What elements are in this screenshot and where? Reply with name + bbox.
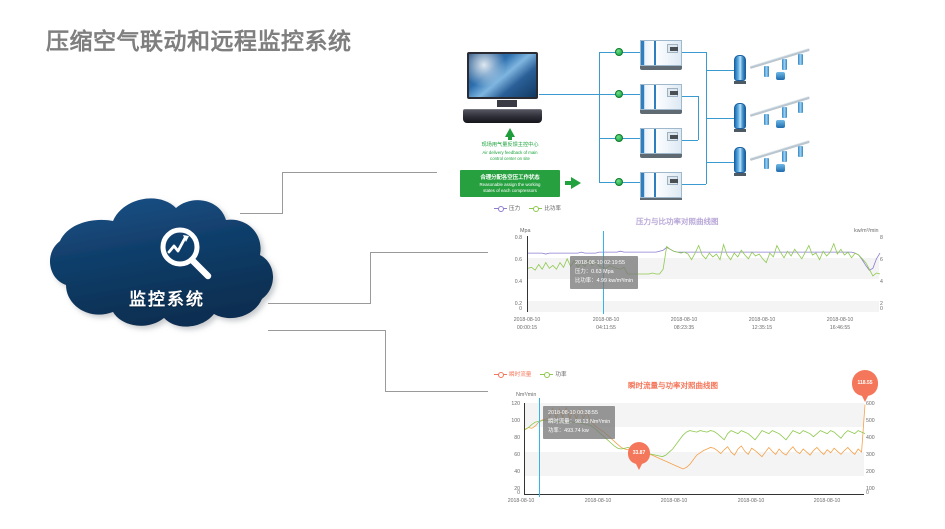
chart1-ytick-r-2: 4 (880, 279, 896, 285)
magnifier-chart-icon (155, 225, 217, 283)
system-diagram: 现场用气量反馈主控中心 Air delivery feedback of mai… (432, 22, 942, 202)
pipe-bus-left (599, 52, 600, 182)
pc-caption-cn: 现场用气量反馈主控中心 (454, 142, 566, 150)
chart2-xtick-3: 2018-08-10 (728, 498, 774, 506)
pipe-out-2 (682, 96, 698, 97)
legend-item-specific-power[interactable]: 比功率 (529, 204, 561, 212)
node-dot-2 (615, 90, 623, 98)
cloud-label: 监控系统 (42, 285, 292, 310)
legend-item-power[interactable]: 功率 (540, 370, 566, 378)
chart2-ytick-4: 80 (504, 435, 520, 441)
chart1-xtick-4-time: 16:46:55 (817, 325, 863, 333)
chart1-tooltip: 2018-08-10 02:19:55 压力：0.63 Mpa 比功率：4.99… (570, 256, 638, 289)
chart1-ylabel-left: Mpa (520, 228, 531, 234)
control-pc (467, 52, 547, 120)
tree-trunk-icon (508, 137, 512, 140)
chart1-ytick-0: 0 (506, 306, 522, 312)
legend-marker-power (540, 374, 553, 375)
chart2-ytick-2: 40 (504, 469, 520, 475)
pc-caption-en-2: control center on site (454, 156, 566, 162)
legend-label-power: 功率 (555, 370, 566, 378)
chart1-xtick-2-date: 2018-08-10 (661, 317, 707, 325)
chart1-tooltip-row2: 比功率：4.99 kw/m³/min (575, 277, 633, 286)
chart2-ytick-r-2: 200 (866, 469, 882, 475)
chart2-title: 瞬时流量与功率对照曲线图 (628, 380, 718, 391)
chart1-xtick-0-time: 00:00:15 (504, 325, 550, 333)
chart2-xtick-4: 2018-08-10 (804, 498, 850, 506)
chart2-ytick-0: 0 (504, 490, 520, 496)
legend-label-specific-power: 比功率 (544, 204, 561, 212)
usage-rail-3 (750, 138, 812, 174)
chart1-ytick-r-3: 6 (880, 257, 896, 263)
chart2-ytick-r-5: 500 (866, 418, 882, 424)
node-dot-4 (615, 178, 623, 186)
green-box-en-2: states of each compressors (460, 188, 560, 194)
chart2-xtick-2: 2018-08-10 (651, 498, 697, 506)
chart2-marker-pin-1[interactable]: 33.87 (628, 442, 650, 472)
chart2-xtick-2-date: 2018-08-10 (651, 498, 697, 506)
pressure-power-chart: 压力 比功率 压力与比功率对照曲线图 Mpa kw/m³/min 0.8 0.6… (488, 200, 888, 335)
chart2-ylabel-left: Nm³/min (516, 392, 536, 398)
chart2-ytick-r-4: 400 (866, 435, 882, 441)
legend-marker-flow (494, 374, 507, 375)
chart2-marker-pin-2[interactable]: 118.55 (852, 370, 878, 400)
chart1-xtick-2: 2018-08-10 08:23:35 (661, 317, 707, 332)
chart1-ytick-r-4: 8 (880, 235, 896, 241)
chart2-cursor-line[interactable] (539, 398, 540, 497)
chart2-ytick-5: 100 (504, 418, 520, 424)
chart2-tooltip-row1: 瞬时流量：98.13 Nm³/min (548, 418, 610, 427)
pipe-tank-3 (706, 162, 734, 163)
chart2-tooltip-row2: 功率：493.74 kw (548, 427, 610, 436)
legend-item-flow[interactable]: 瞬时流量 (494, 370, 531, 378)
chart2-xtick-0: 2018-08-10 (498, 498, 544, 506)
pipe-out-3 (682, 140, 698, 141)
chart1-legend[interactable]: 压力 比功率 (494, 204, 561, 212)
pipe-tank-2 (706, 118, 734, 119)
chart1-xtick-1-time: 04:11:55 (583, 325, 629, 333)
pc-caption: 现场用气量反馈主控中心 Air delivery feedback of mai… (454, 128, 566, 162)
node-dot-1 (615, 48, 623, 56)
tree-icon (505, 128, 515, 137)
chart1-xtick-3-time: 12:35:15 (739, 325, 785, 333)
air-tank-2 (734, 103, 746, 133)
chart2-xtick-1: 2018-08-10 (575, 498, 621, 506)
chart2-ytick-3: 60 (504, 452, 520, 458)
pipe-out-4 (682, 184, 706, 185)
chart2-marker-pin-1-tip (633, 458, 645, 470)
chart1-ylabel-right: kw/m³/min (854, 228, 879, 234)
green-box-cn: 合理分配各空压工作状态 (460, 174, 560, 182)
chart1-title: 压力与比功率对照曲线图 (636, 216, 719, 227)
chart1-xtick-4: 2018-08-10 16:46:55 (817, 317, 863, 332)
chart2-xtick-1-date: 2018-08-10 (575, 498, 621, 506)
compressor-3 (640, 128, 682, 158)
chart1-xtick-0-date: 2018-08-10 (504, 317, 550, 325)
chart1-ytick-2: 0.4 (506, 279, 522, 285)
green-arrow-icon (571, 177, 581, 189)
monitor-screen (467, 52, 538, 99)
chart1-ytick-3: 0.6 (506, 257, 522, 263)
connector-line-1 (240, 172, 440, 214)
compressor-2 (640, 84, 682, 114)
monitor-stand (497, 100, 517, 107)
pipe-tank-1 (706, 70, 734, 71)
legend-marker-specific-power (529, 208, 542, 209)
connector-line-2 (268, 252, 498, 304)
page-title: 压缩空气联动和远程监控系统 (46, 22, 352, 56)
chart2-tooltip: 2018-08-10 00:38:55 瞬时流量：98.13 Nm³/min 功… (543, 406, 615, 439)
chart2-xtick-4-date: 2018-08-10 (804, 498, 850, 506)
pipe-out-bus-2 (698, 96, 699, 140)
compressor-4 (640, 172, 682, 202)
pipe-out-1 (682, 52, 706, 53)
chart2-ytick-r-0: 0 (866, 490, 882, 496)
chart2-marker-pin-2-tip (859, 390, 871, 402)
chart2-ytick-6: 120 (504, 401, 520, 407)
usage-rail-2 (750, 94, 812, 130)
legend-label-flow: 瞬时流量 (509, 370, 531, 378)
green-callout-box: 合理分配各空压工作状态 Reasonable assign the workin… (460, 170, 560, 197)
chart2-ytick-r-3: 300 (866, 452, 882, 458)
compressor-1 (640, 40, 682, 70)
chart2-legend[interactable]: 瞬时流量 功率 (494, 370, 567, 378)
chart2-xtick-0-date: 2018-08-10 (498, 498, 544, 506)
chart2-xtick-3-date: 2018-08-10 (728, 498, 774, 506)
chart1-xtick-0: 2018-08-10 00:00:15 (504, 317, 550, 332)
node-dot-3 (615, 134, 623, 142)
chart1-xtick-4-date: 2018-08-10 (817, 317, 863, 325)
chart1-xtick-3-date: 2018-08-10 (739, 317, 785, 325)
keyboard (463, 109, 542, 123)
usage-rail-1 (750, 46, 812, 82)
legend-item-pressure[interactable]: 压力 (494, 204, 520, 212)
chart1-tooltip-row1: 压力：0.63 Mpa (575, 268, 633, 277)
chart1-ytick-r-0: 0 (880, 306, 896, 312)
connector-line-3 (268, 330, 498, 392)
chart1-ytick-4: 0.8 (506, 235, 522, 241)
air-tank-3 (734, 147, 746, 177)
legend-marker-pressure (494, 208, 507, 209)
flow-power-chart: 瞬时流量 功率 瞬时流量与功率对照曲线图 Nm³/min 120 100 80 … (488, 362, 888, 527)
chart1-xtick-1: 2018-08-10 04:11:55 (583, 317, 629, 332)
pipe-pc-to-bus (539, 94, 599, 95)
air-tank-1 (734, 55, 746, 85)
chart1-xtick-1-date: 2018-08-10 (583, 317, 629, 325)
chart2-tooltip-timestamp: 2018-08-10 00:38:55 (548, 409, 610, 418)
chart1-xtick-3: 2018-08-10 12:35:15 (739, 317, 785, 332)
chart1-xtick-2-time: 08:23:35 (661, 325, 707, 333)
monitoring-cloud[interactable]: 监控系统 (42, 193, 292, 338)
legend-label-pressure: 压力 (509, 204, 520, 212)
chart1-tooltip-timestamp: 2018-08-10 02:19:55 (575, 259, 633, 268)
